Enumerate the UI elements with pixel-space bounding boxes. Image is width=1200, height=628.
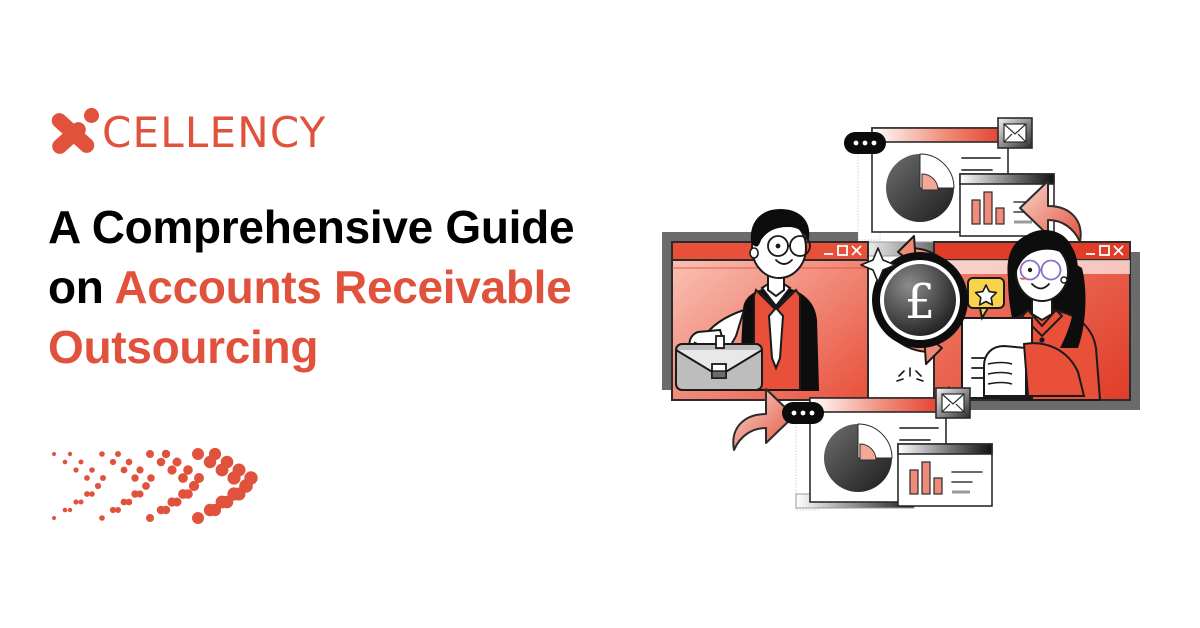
brand-logo[interactable]: CELLENCY: [46, 104, 326, 162]
left-content-column: CELLENCY A Comprehensive Guide on Accoun…: [46, 0, 656, 628]
headline-line-1: A Comprehensive Guide: [48, 201, 574, 253]
page-title: A Comprehensive Guide on Accounts Receiv…: [48, 198, 648, 377]
logo-x-mark-icon: [46, 107, 100, 159]
dots-pill-icon-2: [782, 402, 824, 424]
headline-line-2-prefix: on: [48, 261, 114, 313]
bar-chart-card-2: [898, 444, 992, 506]
dot-chevron-decoration: [48, 440, 278, 540]
hero-illustration: £: [648, 96, 1188, 536]
logo-wordmark: CELLENCY: [102, 112, 326, 154]
banner-root: CELLENCY A Comprehensive Guide on Accoun…: [0, 0, 1200, 628]
burst-icon: [897, 368, 923, 381]
envelope-icon-2: [936, 388, 970, 418]
window-businesswoman: [934, 230, 1140, 410]
window-businessman: [662, 210, 868, 400]
pie-chart: [886, 154, 954, 222]
top-dashboard-cluster: [844, 118, 1054, 256]
headline-line-2-accent: Accounts Receivable: [114, 261, 571, 313]
envelope-icon: [998, 118, 1032, 148]
dots-pill-icon: [844, 132, 886, 154]
headline-line-3-accent: Outsourcing: [48, 321, 318, 373]
bottom-dashboard-cluster: [782, 388, 992, 510]
briefcase-icon: [676, 336, 762, 390]
currency-symbol: £: [905, 274, 936, 330]
pie-chart-2: [824, 424, 892, 492]
